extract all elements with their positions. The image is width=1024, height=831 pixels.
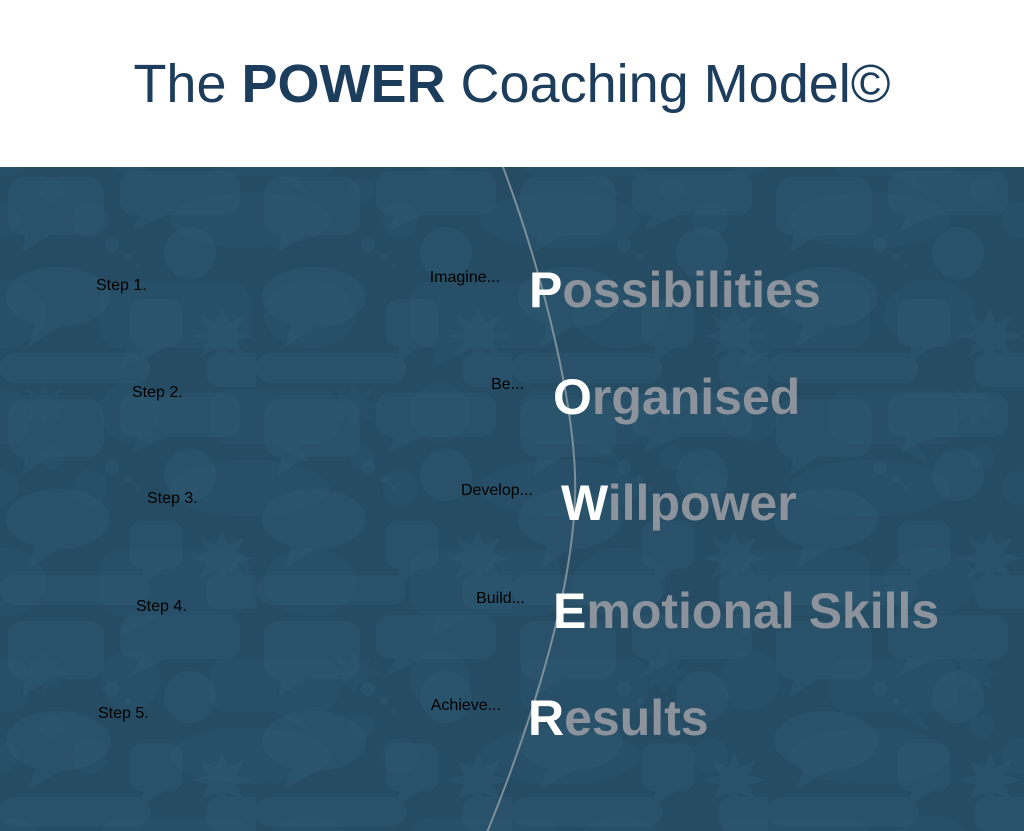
- steps-list: Step 1. Imagine... Possibilities Step 2.…: [0, 167, 1024, 831]
- step-keyword-initial-2: O: [553, 369, 592, 425]
- step-keyword-4: Emotional Skills: [553, 586, 939, 636]
- step-keyword-rest-3: illpower: [608, 475, 797, 531]
- step-verb-4: Build...: [165, 590, 525, 608]
- page-title: The POWER Coaching Model©: [133, 57, 890, 111]
- step-keyword-initial-3: W: [561, 475, 608, 531]
- step-verb-5: Achieve...: [141, 697, 501, 715]
- step-verb-2: Be...: [164, 376, 524, 394]
- step-keyword-initial-1: P: [529, 262, 562, 318]
- step-keyword-rest-5: esults: [564, 690, 709, 746]
- step-keyword-1: Possibilities: [529, 265, 821, 315]
- step-keyword-rest-2: rganised: [592, 369, 800, 425]
- step-keyword-2: Organised: [553, 372, 800, 422]
- step-verb-3: Develop...: [173, 482, 533, 500]
- title-suffix: Coaching Model©: [446, 54, 891, 114]
- step-verb-1: Imagine...: [140, 269, 500, 287]
- list-item: Step 4. Build... Emotional Skills: [0, 590, 1024, 660]
- list-item: Step 2. Be... Organised: [0, 376, 1024, 446]
- step-keyword-3: Willpower: [561, 478, 797, 528]
- power-coaching-model-slide: The POWER Coaching Model©: [0, 0, 1024, 831]
- step-keyword-5: Results: [528, 693, 709, 743]
- list-item: Step 3. Develop... Willpower: [0, 482, 1024, 552]
- list-item: Step 5. Achieve... Results: [0, 697, 1024, 767]
- step-keyword-initial-4: E: [553, 583, 586, 639]
- slide-header: The POWER Coaching Model©: [0, 0, 1024, 167]
- title-emphasis: POWER: [242, 54, 446, 114]
- slide-body-panel: Step 1. Imagine... Possibilities Step 2.…: [0, 167, 1024, 831]
- step-keyword-rest-1: ossibilities: [562, 262, 820, 318]
- step-keyword-rest-4: motional Skills: [586, 583, 939, 639]
- title-prefix: The: [133, 54, 241, 114]
- step-keyword-initial-5: R: [528, 690, 564, 746]
- list-item: Step 1. Imagine... Possibilities: [0, 269, 1024, 339]
